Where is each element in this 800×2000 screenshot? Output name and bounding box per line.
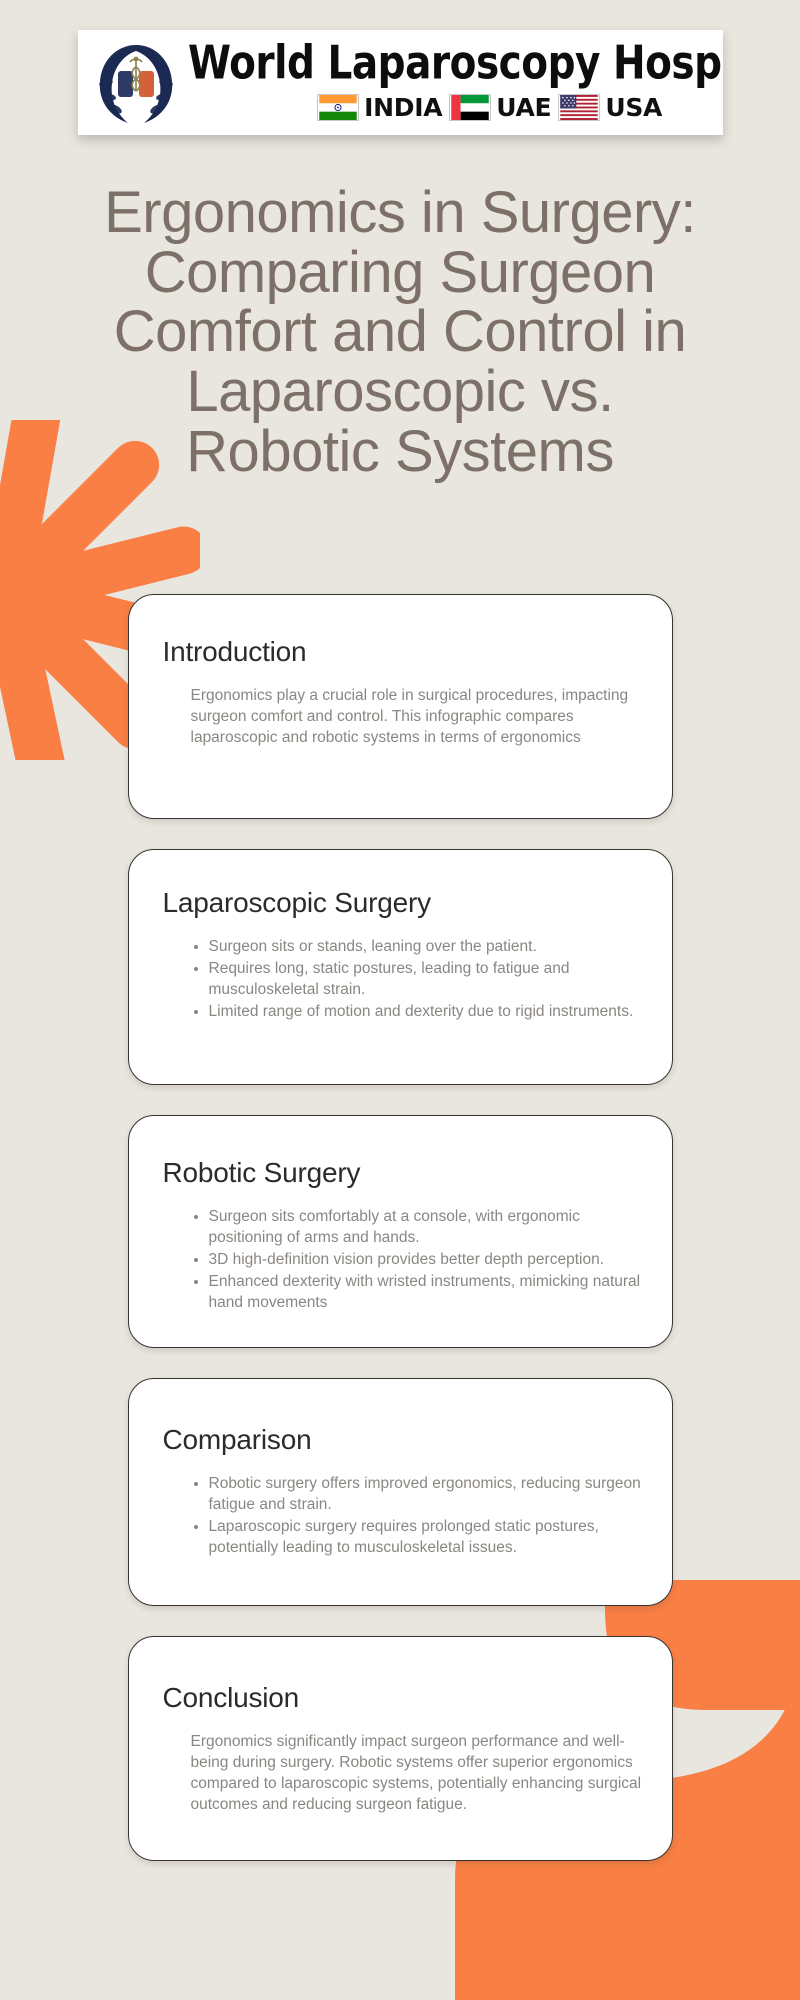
banner-organization-name: World Laparoscopy Hospital: [188, 40, 723, 86]
card-introduction: Introduction Ergonomics play a crucial r…: [128, 594, 673, 819]
card-heading-introduction: Introduction: [163, 637, 642, 668]
card-robotic-surgery: Robotic Surgery Surgeon sits comfortably…: [128, 1115, 673, 1348]
usa-flag-icon: [558, 94, 600, 121]
country-india: INDIA: [317, 94, 442, 121]
card-comparison: Comparison Robotic surgery offers improv…: [128, 1378, 673, 1606]
card-heading-robotic-surgery: Robotic Surgery: [163, 1158, 642, 1189]
bullet-list-comparison: Robotic surgery offers improved ergonomi…: [183, 1473, 642, 1558]
paragraph-conclusion: Ergonomics significantly impact surgeon …: [191, 1731, 642, 1815]
page-title-line-2: Comparing Surgeon: [6, 243, 794, 303]
card-body-comparison: Robotic surgery offers improved ergonomi…: [163, 1473, 642, 1558]
list-item: Laparoscopic surgery requires prolonged …: [209, 1516, 642, 1558]
card-body-robotic-surgery: Surgeon sits comfortably at a console, w…: [163, 1206, 642, 1313]
uae-flag-icon: [449, 94, 491, 121]
card-laparoscopic-surgery: Laparoscopic Surgery Surgeon sits or sta…: [128, 849, 673, 1085]
card-heading-comparison: Comparison: [163, 1425, 642, 1456]
page-title-line-3: Comfort and Control in: [6, 302, 794, 362]
page-title: Ergonomics in Surgery: Comparing Surgeon…: [0, 183, 800, 482]
country-label-uae: UAE: [496, 95, 551, 120]
country-label-india: INDIA: [364, 95, 442, 120]
country-label-usa: USA: [605, 95, 662, 120]
paragraph-introduction: Ergonomics play a crucial role in surgic…: [191, 685, 642, 748]
laurel-wreath-caduceus-crest-icon: [88, 37, 184, 129]
section-card-list: Introduction Ergonomics play a crucial r…: [0, 594, 800, 1891]
list-item: Surgeon sits or stands, leaning over the…: [209, 936, 642, 957]
bullet-list-robotic-surgery: Surgeon sits comfortably at a console, w…: [183, 1206, 642, 1313]
card-body-laparoscopic-surgery: Surgeon sits or stands, leaning over the…: [163, 936, 642, 1022]
logo-banner: World Laparoscopy Hospital: [78, 30, 723, 135]
country-uae: UAE: [449, 94, 551, 121]
list-item: Robotic surgery offers improved ergonomi…: [209, 1473, 642, 1515]
page-title-line-4: Laparoscopic vs.: [6, 362, 794, 422]
india-flag-icon: [317, 94, 359, 121]
page-title-line-1: Ergonomics in Surgery:: [6, 183, 794, 243]
infographic-page: World Laparoscopy Hospital: [0, 0, 800, 2000]
list-item: Enhanced dexterity with wristed instrume…: [209, 1271, 642, 1313]
list-item: Surgeon sits comfortably at a console, w…: [209, 1206, 642, 1248]
banner-country-flags: INDIA UAE: [317, 94, 662, 121]
card-conclusion: Conclusion Ergonomics significantly impa…: [128, 1636, 673, 1861]
card-body-conclusion: Ergonomics significantly impact surgeon …: [163, 1731, 642, 1815]
page-title-line-5: Robotic Systems: [6, 422, 794, 482]
card-body-introduction: Ergonomics play a crucial role in surgic…: [163, 685, 642, 748]
list-item: 3D high-definition vision provides bette…: [209, 1249, 642, 1270]
card-heading-conclusion: Conclusion: [163, 1683, 642, 1714]
bullet-list-laparoscopic-surgery: Surgeon sits or stands, leaning over the…: [183, 936, 642, 1022]
card-heading-laparoscopic-surgery: Laparoscopic Surgery: [163, 888, 642, 919]
list-item: Limited range of motion and dexterity du…: [209, 1001, 642, 1022]
country-usa: USA: [558, 94, 662, 121]
list-item: Requires long, static postures, leading …: [209, 958, 642, 1000]
